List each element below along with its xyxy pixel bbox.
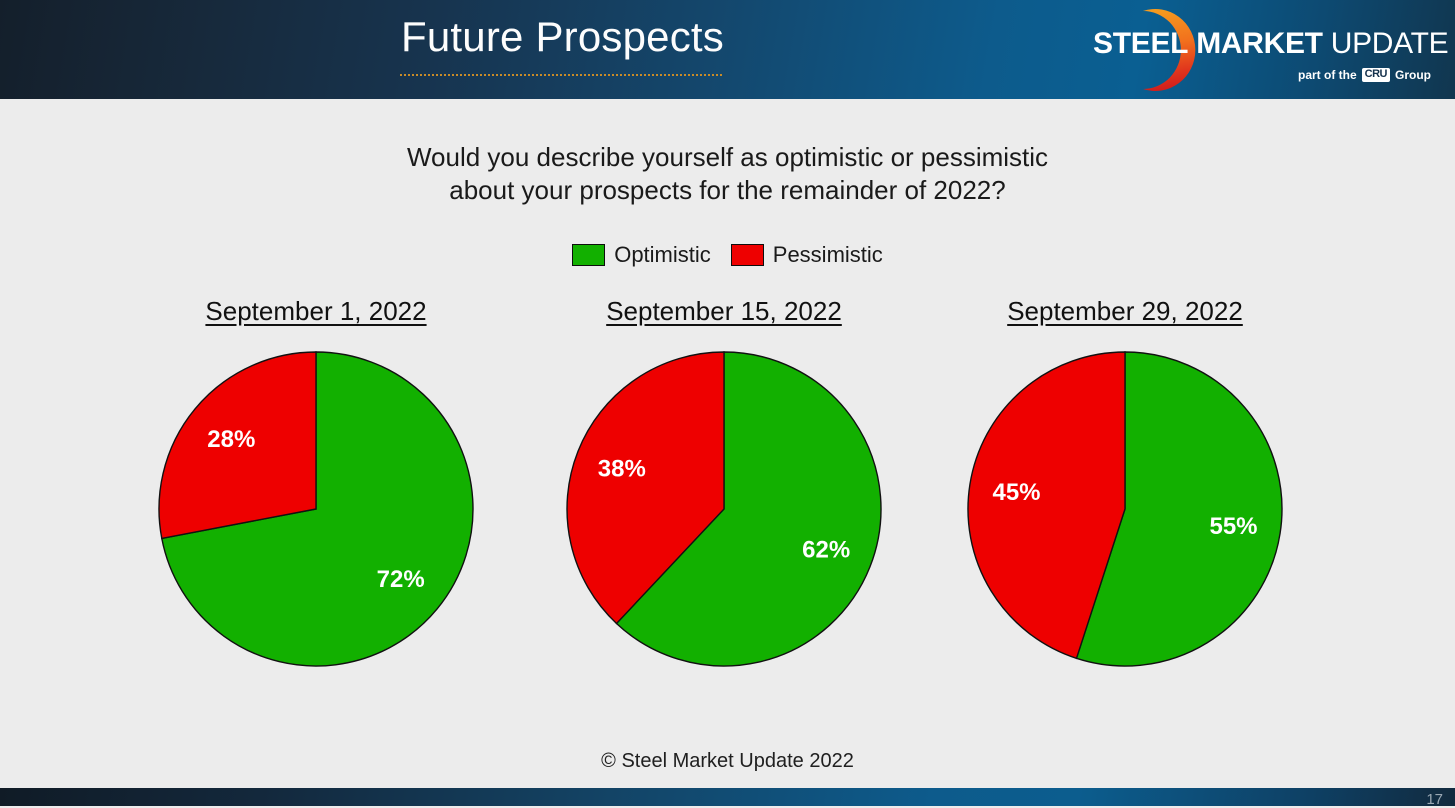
chart-column-2: September 29, 2022 55%45% [925,296,1325,674]
chart-legend: Optimistic Pessimistic [0,242,1455,268]
logo-wordmark: STEELMARKETUPDATE [1093,29,1433,59]
slide-footer-bar: 17 [0,788,1455,806]
pie-label-pessimistic: 28% [207,426,255,453]
pie-chart-svg-2: 55%45% [925,344,1325,674]
legend-label-pessimistic: Pessimistic [773,242,883,268]
pie-chart-2: 55%45% [925,344,1325,674]
survey-question: Would you describe yourself as optimisti… [0,141,1455,207]
title-underline-decoration [400,74,722,76]
chart-date-heading-0: September 1, 2022 [205,296,426,326]
logo-word-market: MARKET [1196,27,1323,60]
chart-column-0: September 1, 2022 72%28% [116,296,516,674]
chart-date-heading-2: September 29, 2022 [1007,296,1243,326]
pie-label-optimistic: 72% [377,566,425,593]
survey-question-line-2: about your prospects for the remainder o… [0,174,1455,207]
chart-date-heading-1: September 15, 2022 [606,296,842,326]
pie-label-optimistic: 55% [1209,513,1257,540]
pie-label-pessimistic: 38% [598,456,646,483]
pie-chart-svg-1: 62%38% [524,344,924,674]
chart-column-1: September 15, 2022 62%38% [524,296,924,674]
pie-chart-svg-0: 72%28% [116,344,516,674]
logo-sub-suffix: Group [1395,68,1431,82]
slide-header: Future Prospects STEELMARKETUPDATE part … [0,0,1455,99]
pie-chart-0: 72%28% [116,344,516,674]
legend-swatch-pessimistic-icon [731,244,764,266]
pie-chart-1: 62%38% [524,344,924,674]
logo-word-steel: STEEL [1093,27,1188,60]
legend-item-pessimistic: Pessimistic [731,242,883,268]
page-number: 17 [1426,791,1443,808]
pie-label-optimistic: 62% [802,537,850,564]
logo-sub-prefix: part of the [1298,68,1357,82]
legend-swatch-optimistic-icon [572,244,605,266]
cru-badge-icon: CRU [1362,68,1390,82]
copyright-text: © Steel Market Update 2022 [0,750,1455,773]
survey-question-line-1: Would you describe yourself as optimisti… [0,141,1455,174]
logo-subtitle: part of the CRU Group [1298,68,1431,82]
legend-item-optimistic: Optimistic [572,242,711,268]
logo-word-update: UPDATE [1331,27,1449,60]
pie-label-pessimistic: 45% [992,479,1040,506]
legend-label-optimistic: Optimistic [614,242,711,268]
page-title: Future Prospects [0,16,1125,58]
brand-logo: STEELMARKETUPDATE part of the CRU Group [1093,4,1433,96]
pie-chart-row: September 1, 2022 72%28% September 15, 2… [0,296,1455,716]
